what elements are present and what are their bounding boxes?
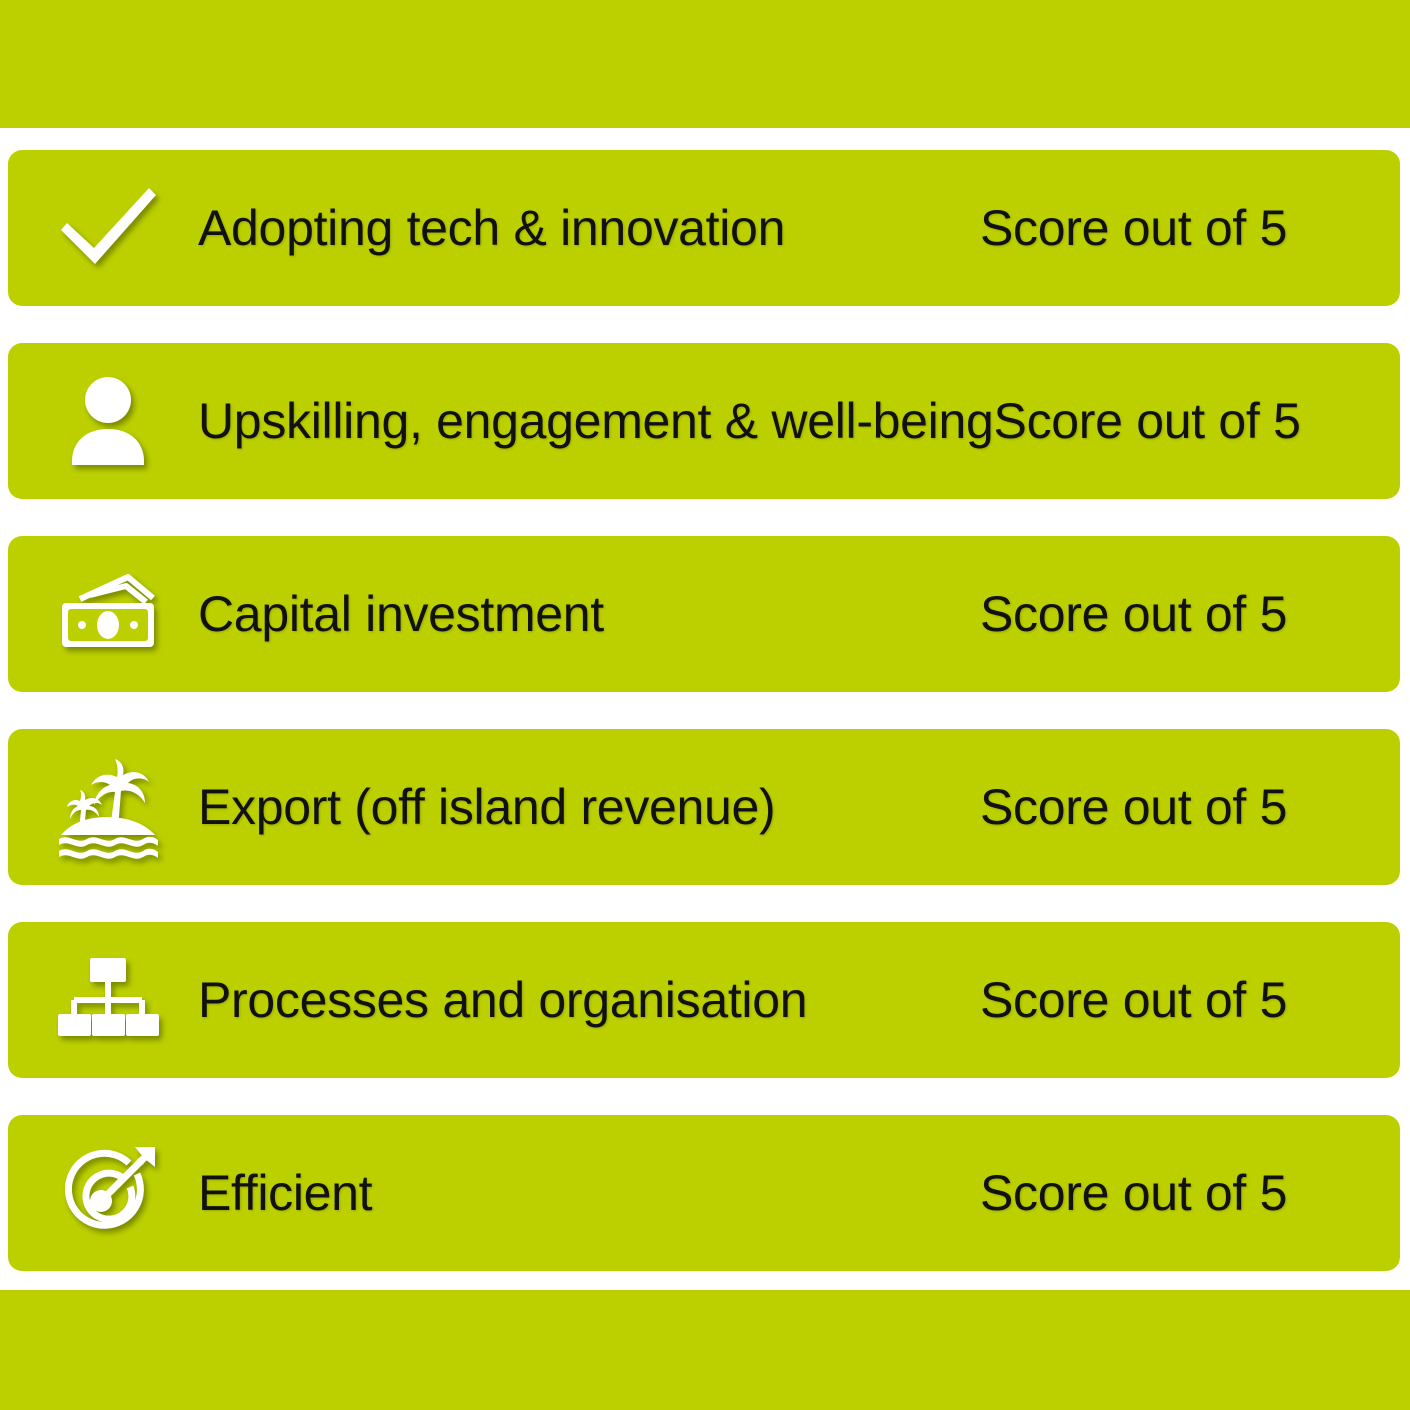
- scorecard-row-score: Score out of 5: [980, 203, 1400, 253]
- scorecard-row-label: Adopting tech & innovation: [198, 203, 980, 253]
- scorecard-row[interactable]: Upskilling, engagement & well-being Scor…: [8, 343, 1400, 499]
- scorecard-row-label: Upskilling, engagement & well-being: [198, 396, 994, 446]
- scorecard-row-score: Score out of 5: [980, 782, 1400, 832]
- check-icon: [8, 150, 198, 306]
- scorecard-row[interactable]: Processes and organisation Score out of …: [8, 922, 1400, 1078]
- scorecard-row-label: Efficient: [198, 1168, 980, 1218]
- person-icon: [8, 343, 198, 499]
- target-dartboard-icon: [8, 1115, 198, 1271]
- scorecard-page: Adopting tech & innovation Score out of …: [0, 0, 1410, 1410]
- scorecard-row-label: Capital investment: [198, 589, 980, 639]
- org-chart-icon: [8, 922, 198, 1078]
- scorecard-row-score: Score out of 5: [980, 975, 1400, 1025]
- top-banner: [0, 0, 1410, 128]
- scorecard-row-score: Score out of 5: [994, 396, 1410, 446]
- scorecard-row-label: Processes and organisation: [198, 975, 980, 1025]
- scorecard-row[interactable]: Adopting tech & innovation Score out of …: [8, 150, 1400, 306]
- scorecard-row-score: Score out of 5: [980, 1168, 1400, 1218]
- bottom-banner: [0, 1290, 1410, 1410]
- scorecard-row[interactable]: Capital investment Score out of 5: [8, 536, 1400, 692]
- scorecard-row-label: Export (off island revenue): [198, 782, 980, 832]
- banknotes-icon: [8, 536, 198, 692]
- scorecard-row-list: Adopting tech & innovation Score out of …: [0, 150, 1410, 1271]
- scorecard-row[interactable]: Export (off island revenue) Score out of…: [8, 729, 1400, 885]
- island-palm-tree-icon: [8, 729, 198, 885]
- scorecard-row[interactable]: Efficient Score out of 5: [8, 1115, 1400, 1271]
- scorecard-row-score: Score out of 5: [980, 589, 1400, 639]
